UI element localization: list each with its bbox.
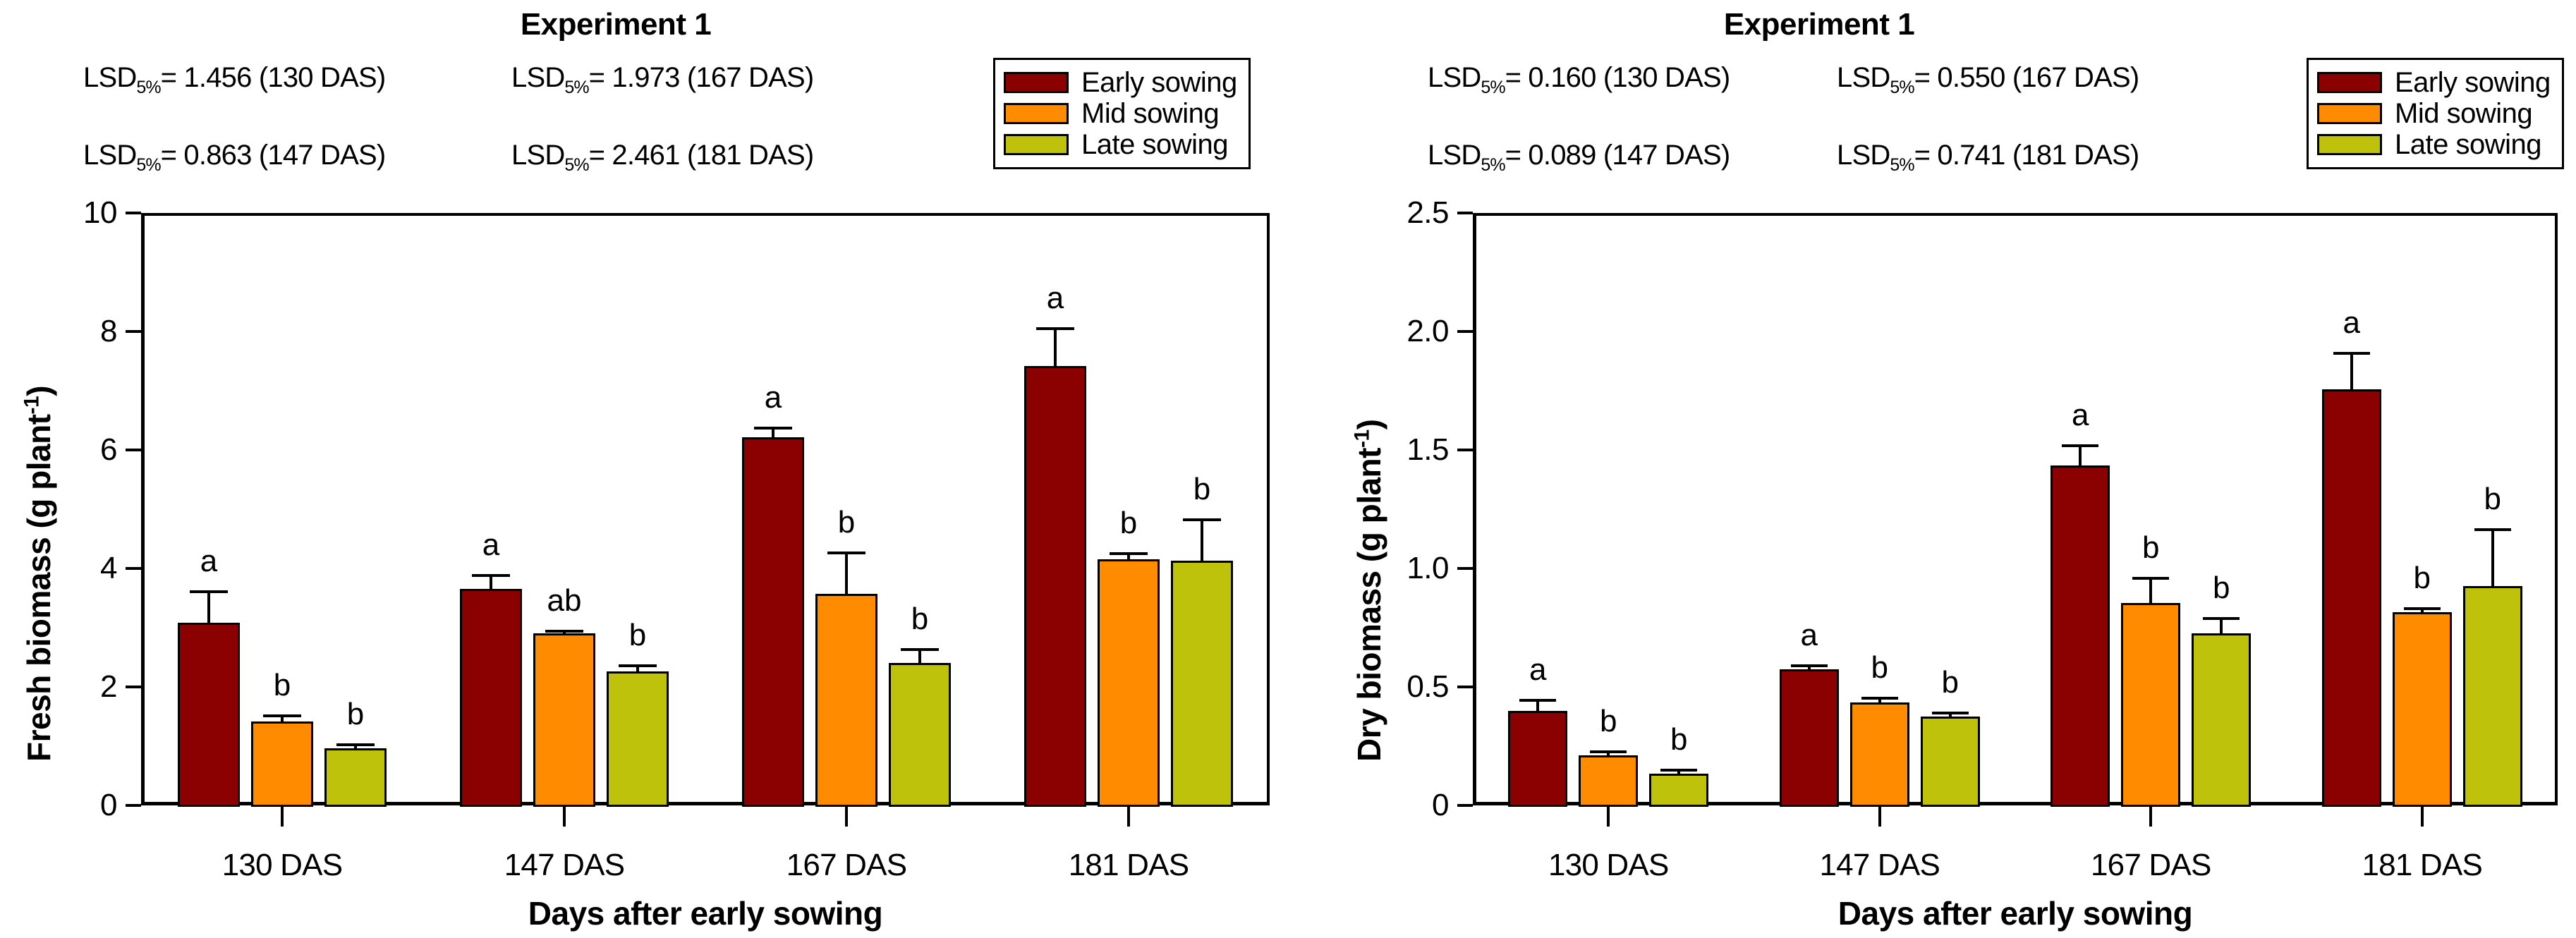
bar <box>533 633 595 807</box>
error-bar-cap <box>2203 617 2240 620</box>
error-bar-cap <box>1590 750 1627 753</box>
error-bar-cap <box>2474 528 2511 531</box>
significance-letter: b <box>911 602 928 637</box>
x-axis-tick-mark <box>2149 805 2152 827</box>
error-bar-cap <box>1183 518 1222 521</box>
bar <box>1921 717 1980 807</box>
error-bar-cap <box>827 552 866 554</box>
y-axis-tick-mark <box>126 567 141 570</box>
significance-letter: b <box>2484 482 2501 517</box>
error-bar-cap <box>2404 607 2441 610</box>
error-bar-stem <box>2491 528 2494 586</box>
significance-letter: b <box>1193 472 1210 507</box>
y-axis-tick-label: 10 <box>0 195 117 231</box>
bar <box>607 671 669 807</box>
significance-letter: b <box>2142 530 2159 566</box>
significance-letter: b <box>347 697 364 732</box>
significance-letter: b <box>2414 561 2431 596</box>
error-bar-stem <box>2149 577 2152 603</box>
significance-letter: a <box>200 544 217 579</box>
error-bar-cap <box>1932 712 1969 714</box>
bar <box>1098 559 1160 807</box>
bar <box>178 623 240 807</box>
y-axis-tick-label: 0.5 <box>1332 669 1449 705</box>
x-axis-tick-label: 181 DAS <box>2362 848 2482 883</box>
significance-letter: a <box>1801 618 1818 653</box>
x-axis-title: Days after early sowing <box>1473 894 2558 932</box>
bar <box>1024 366 1086 807</box>
y-axis-tick-mark <box>1457 449 1473 451</box>
y-axis-tick-mark <box>126 686 141 688</box>
error-bar-stem <box>1054 327 1057 366</box>
panel-dry-biomass: Experiment 1 LSD5%= 0.160 (130 DAS) LSD5… <box>1288 0 2576 938</box>
significance-letter: b <box>274 668 291 703</box>
error-bar-stem <box>207 590 210 623</box>
y-axis-tick-label: 2.0 <box>1332 314 1449 349</box>
bar <box>2121 603 2180 807</box>
y-axis-tick-label: 8 <box>0 314 117 349</box>
x-axis-tick-label: 167 DAS <box>2091 848 2211 883</box>
y-axis-tick-mark <box>126 449 141 451</box>
error-bar-cap <box>1660 769 1697 772</box>
significance-letter: a <box>2072 398 2089 433</box>
bar <box>815 594 877 807</box>
bar <box>324 748 387 807</box>
significance-letter: b <box>1871 650 1888 686</box>
bar <box>2393 612 2452 807</box>
error-bar-cap <box>472 574 511 577</box>
x-axis-tick-mark <box>845 805 848 827</box>
error-bar-cap <box>1519 699 1556 702</box>
bar <box>742 437 804 807</box>
x-axis-tick-mark <box>563 805 566 827</box>
x-axis-tick-label: 147 DAS <box>504 848 625 883</box>
y-axis-tick-label: 0 <box>0 788 117 823</box>
error-bar-cap <box>190 590 229 593</box>
y-axis-tick-mark <box>1457 686 1473 688</box>
x-axis-tick-mark <box>281 805 284 827</box>
bar <box>1780 669 1839 807</box>
error-bar-cap <box>2062 444 2098 447</box>
y-axis-tick-mark <box>126 212 141 214</box>
significance-letter: b <box>629 618 646 653</box>
error-bar-cap <box>619 664 657 667</box>
bar <box>1508 711 1567 807</box>
x-axis-tick-label: 167 DAS <box>786 848 907 883</box>
bar <box>2192 633 2251 807</box>
bar <box>1649 774 1708 807</box>
plot-overlay: 0246810130 DASabb147 DASaabb167 DASabb18… <box>0 0 1288 938</box>
significance-letter: a <box>765 380 782 415</box>
bar <box>460 589 522 807</box>
significance-letter: a <box>1529 652 1546 688</box>
significance-letter: a <box>1047 281 1064 316</box>
error-bar-cap <box>901 648 940 651</box>
bar <box>1579 755 1638 807</box>
y-axis-tick-mark <box>126 804 141 807</box>
bar <box>2463 586 2522 807</box>
x-axis-tick-label: 130 DAS <box>222 848 343 883</box>
significance-letter: b <box>838 505 855 540</box>
y-axis-tick-mark <box>1457 567 1473 570</box>
bar <box>2051 465 2110 807</box>
bar <box>2322 389 2381 807</box>
bar <box>1850 702 1909 807</box>
y-axis-tick-label: 1.0 <box>1332 551 1449 586</box>
y-axis-tick-mark <box>1457 330 1473 333</box>
x-axis-tick-mark <box>1607 805 1610 827</box>
y-axis-tick-label: 4 <box>0 551 117 586</box>
y-axis-tick-label: 0 <box>1332 788 1449 823</box>
significance-letter: b <box>2213 571 2230 606</box>
error-bar-stem <box>2079 444 2082 465</box>
significance-letter: b <box>1600 704 1617 739</box>
error-bar-cap <box>1036 327 1075 330</box>
y-axis-tick-label: 2 <box>0 669 117 705</box>
significance-letter: a <box>2343 305 2360 341</box>
error-bar-stem <box>845 552 848 594</box>
error-bar-cap <box>2333 352 2370 355</box>
error-bar-cap <box>1861 697 1898 700</box>
bar <box>251 721 313 807</box>
error-bar-cap <box>754 427 793 430</box>
y-axis-tick-mark <box>1457 212 1473 214</box>
significance-letter: b <box>1942 665 1959 700</box>
x-axis-tick-mark <box>2421 805 2424 827</box>
error-bar-cap <box>1791 664 1828 667</box>
panel-fresh-biomass: Experiment 1 LSD5%= 1.456 (130 DAS) LSD5… <box>0 0 1288 938</box>
x-axis-tick-label: 181 DAS <box>1069 848 1189 883</box>
error-bar-cap <box>336 743 375 746</box>
x-axis-tick-label: 147 DAS <box>1819 848 1940 883</box>
error-bar-cap <box>263 714 302 717</box>
significance-letter: a <box>482 528 499 563</box>
x-axis-tick-mark <box>1127 805 1130 827</box>
bar <box>889 663 951 807</box>
significance-letter: b <box>1120 506 1137 541</box>
error-bar-stem <box>2350 352 2353 390</box>
bar <box>1171 561 1233 807</box>
y-axis-tick-mark <box>126 330 141 333</box>
y-axis-tick-label: 1.5 <box>1332 432 1449 468</box>
y-axis-tick-label: 2.5 <box>1332 195 1449 231</box>
error-bar-stem <box>1201 518 1203 561</box>
x-axis-tick-mark <box>1878 805 1881 827</box>
figure-two-panel-bar-charts: Experiment 1 LSD5%= 1.456 (130 DAS) LSD5… <box>0 0 2576 938</box>
significance-letter: b <box>1670 722 1687 757</box>
x-axis-tick-label: 130 DAS <box>1548 848 1669 883</box>
y-axis-tick-mark <box>1457 804 1473 807</box>
significance-letter: ab <box>547 583 582 619</box>
plot-overlay: 00.51.01.52.02.5130 DASabb147 DASabb167 … <box>1288 0 2576 938</box>
y-axis-tick-label: 6 <box>0 432 117 468</box>
error-bar-cap <box>1110 552 1148 555</box>
error-bar-cap <box>545 630 584 633</box>
x-axis-title: Days after early sowing <box>141 894 1270 932</box>
error-bar-cap <box>2132 577 2169 580</box>
